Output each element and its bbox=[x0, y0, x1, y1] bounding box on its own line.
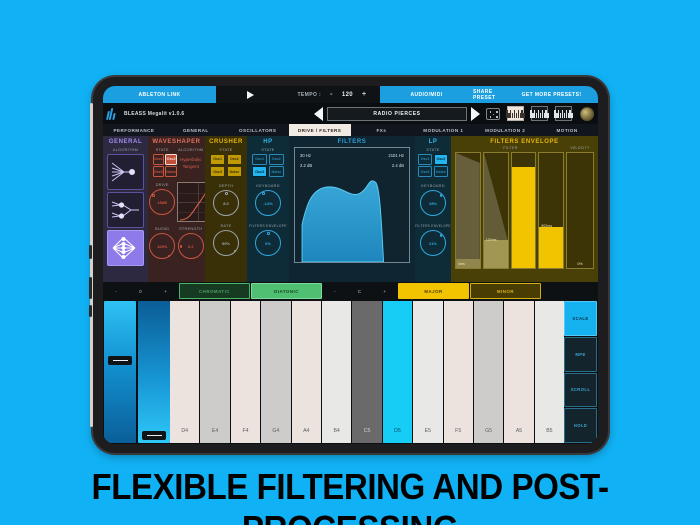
hp-title: HP bbox=[247, 137, 289, 146]
crusher-module: CRUSHER STATE Osc1 Osc2 Osc3 Noise DEPTH… bbox=[205, 136, 247, 282]
hp-state-osc1[interactable]: Osc1 bbox=[252, 154, 267, 165]
octave-stepper: - 0 + bbox=[104, 283, 178, 299]
modules-panel: GENERAL ALGORITHM bbox=[103, 136, 598, 282]
waveshaper-blend-value: 100% bbox=[157, 244, 167, 249]
diatonic-button[interactable]: DIATONIC bbox=[251, 283, 322, 299]
crusher-depth-value: 8.0 bbox=[223, 201, 229, 206]
keyboard-preset-icon[interactable] bbox=[531, 106, 548, 121]
keyboard-preset-icon[interactable] bbox=[555, 106, 572, 121]
tab-oscillators[interactable]: OSCILLATORS bbox=[227, 124, 289, 136]
piano-key-e5[interactable]: E5 bbox=[413, 301, 442, 443]
lp-filters-envelope-knob[interactable]: 21% bbox=[420, 230, 446, 256]
bleass-logo-icon bbox=[107, 108, 119, 120]
ableton-link-button[interactable]: ABLETON LINK bbox=[103, 86, 216, 103]
algorithm-serial-icon[interactable] bbox=[107, 154, 144, 190]
play-icon bbox=[247, 91, 254, 99]
waveshaper-state-grid: Osc1 Osc2 Osc3 Noise bbox=[148, 154, 177, 178]
crusher-rate-knob[interactable]: 90% bbox=[213, 230, 239, 256]
get-more-presets-button[interactable]: GET MORE PRESETS! bbox=[505, 86, 598, 103]
hp-filter-module: HP STATE Osc1 Osc2 Osc3 Noise KEYBOARD -… bbox=[247, 136, 289, 282]
filters-envelope-velocity-label: VELOCITY bbox=[566, 146, 594, 150]
waveshaper-module: WAVESHAPER STATE Osc1 Osc2 Osc3 Noise AL… bbox=[148, 136, 205, 282]
envelope-velocity-value: 0% bbox=[567, 262, 593, 266]
envelope-decay-slider[interactable]: 100ms bbox=[483, 152, 509, 269]
caption-text: FLEXIBLE FILTERING AND POST-PROCESSING bbox=[28, 466, 672, 525]
hp-keyboard-value: -14% bbox=[263, 201, 272, 206]
general-module: GENERAL ALGORITHM bbox=[103, 136, 148, 282]
hp-state-label: STATE bbox=[247, 148, 289, 152]
keyboard-preset-icon[interactable] bbox=[507, 106, 524, 121]
lp-state-label: STATE bbox=[415, 148, 451, 152]
envelope-velocity-slider[interactable]: 0% bbox=[566, 152, 594, 269]
mpe-toggle-button[interactable]: MPE bbox=[564, 337, 597, 372]
tab-modulation-1[interactable]: MODULATION 1 bbox=[412, 124, 474, 136]
lp-keyboard-control: KEYBOARD 28% bbox=[415, 182, 451, 216]
lp-state-osc3[interactable]: Osc3 bbox=[418, 166, 432, 177]
key-decrement-button[interactable]: - bbox=[334, 289, 336, 294]
waveshaper-state-osc1[interactable]: Osc1 bbox=[153, 154, 164, 165]
hp-state-noise[interactable]: Noise bbox=[269, 166, 284, 177]
envelope-release-value: 502ms bbox=[541, 224, 552, 228]
keyboard-area: D4 E4 F4 G4 A4 B4 C5 D5 E5 F5 G5 A5 B5 S… bbox=[103, 300, 598, 444]
audio-midi-button[interactable]: AUDIO/MIDI bbox=[380, 86, 473, 103]
waveshaper-strength-label: STRENGTH bbox=[179, 227, 202, 231]
filters-envelope-filter-label: FILTER bbox=[455, 146, 566, 150]
envelope-attack-value: 4ms bbox=[458, 262, 465, 266]
piano-key-g5[interactable]: G5 bbox=[474, 301, 503, 443]
envelope-sustain-fill bbox=[512, 167, 536, 268]
waveshaper-strength-knob[interactable]: 0.2 bbox=[178, 233, 204, 259]
envelope-attack-slider[interactable]: 4ms bbox=[455, 152, 481, 269]
lp-state-osc1[interactable]: Osc1 bbox=[418, 154, 432, 165]
scale-bar: - 0 + CHROMATIC DIATONIC - C + MAJOR MIN… bbox=[103, 282, 598, 300]
key-value: C bbox=[358, 289, 361, 294]
tab-general[interactable]: GENERAL bbox=[165, 124, 227, 136]
lp-keyboard-value: 28% bbox=[429, 201, 437, 206]
piano-key-c5[interactable]: C5 bbox=[352, 301, 381, 443]
envelope-sustain-value: 0.9 bbox=[514, 163, 519, 167]
tempo-label: TEMPO : bbox=[297, 92, 321, 98]
device-side-button bbox=[89, 245, 92, 259]
crusher-depth-knob[interactable]: 8.0 bbox=[213, 190, 239, 216]
lp-filters-envelope-control: FILTERS ENVELOPE 21% bbox=[415, 222, 451, 256]
tempo-value[interactable]: 120 bbox=[342, 92, 353, 98]
octave-decrement-button[interactable]: - bbox=[115, 289, 117, 294]
hold-toggle-button[interactable]: HOLD bbox=[564, 408, 597, 443]
tab-motion[interactable]: MOTION bbox=[536, 124, 598, 136]
key-increment-button[interactable]: + bbox=[383, 289, 386, 294]
piano-key-b5[interactable]: B5 bbox=[535, 301, 564, 443]
waveshaper-algorithm-label: ALGORITHM bbox=[177, 148, 206, 152]
dice-icon[interactable] bbox=[486, 108, 500, 120]
envelope-release-slider[interactable]: 502ms bbox=[538, 152, 564, 269]
waveshaper-drive-knob[interactable]: 15dB bbox=[149, 189, 175, 215]
ribbon-controllers bbox=[103, 300, 170, 444]
tab-bar: PERFORMANCE GENERAL OSCILLATORS DRIVE / … bbox=[103, 124, 598, 136]
tab-drive-filters[interactable]: DRIVE / FILTERS bbox=[289, 124, 351, 136]
crusher-title: CRUSHER bbox=[205, 137, 247, 146]
piano-keys: D4 E4 F4 G4 A4 B4 C5 D5 E5 F5 G5 A5 B5 bbox=[170, 300, 564, 444]
crusher-rate-label: RATE bbox=[220, 224, 231, 228]
waveshaper-state-osc2[interactable]: Osc2 bbox=[165, 154, 177, 165]
scale-toggle-button[interactable]: SCALE bbox=[564, 301, 597, 336]
tab-modulation-2[interactable]: MODULATION 2 bbox=[474, 124, 536, 136]
chromatic-button[interactable]: CHROMATIC bbox=[179, 283, 250, 299]
algorithm-options bbox=[103, 154, 148, 266]
lp-keyboard-knob[interactable]: 28% bbox=[420, 190, 446, 216]
hp-filters-envelope-knob[interactable]: 0% bbox=[255, 230, 281, 256]
hp-filters-envelope-value: 0% bbox=[265, 241, 271, 246]
piano-key-d4[interactable]: D4 bbox=[170, 301, 199, 443]
preset-name-display[interactable]: RADIO PIERCES bbox=[327, 107, 467, 121]
filters-response-graph[interactable]: 30 Hz 2.2 dB 2101 Hz 2.4 dB bbox=[294, 147, 410, 263]
knob-indicator bbox=[225, 192, 228, 195]
pitch-ribbon[interactable] bbox=[104, 301, 136, 443]
waveshaper-blend-control: BLEND 100% bbox=[148, 225, 177, 259]
scale-bar-spacer bbox=[542, 283, 597, 299]
preset-bar: BLEASS Megalit v1.0.6 RADIO PIERCES bbox=[103, 103, 598, 124]
knob-indicator bbox=[440, 194, 443, 197]
general-algorithm-label: ALGORITHM bbox=[103, 148, 148, 152]
waveshaper-drive-label: DRIVE bbox=[156, 183, 169, 187]
crusher-depth-label: DEPTH bbox=[219, 184, 233, 188]
hp-state-osc2[interactable]: Osc2 bbox=[269, 154, 284, 165]
minor-button[interactable]: MINOR bbox=[470, 283, 541, 299]
filters-envelope-bars: 4ms 100ms 0.9 502m bbox=[451, 151, 598, 269]
piano-key-e4[interactable]: E4 bbox=[200, 301, 229, 443]
knob-indicator bbox=[152, 194, 155, 197]
crusher-state-osc3[interactable]: Osc3 bbox=[210, 166, 225, 177]
key-stepper: - C + bbox=[323, 283, 397, 299]
hp-filters-envelope-label: FILTERS ENVELOPE bbox=[249, 224, 287, 228]
tablet-device: ABLETON LINK TEMPO : - 120 + AUDIO/MIDI … bbox=[93, 77, 608, 453]
filters-envelope-module: FILTERS ENVELOPE FILTER VELOCITY 4ms bbox=[451, 136, 598, 282]
piano-key-a5[interactable]: A5 bbox=[504, 301, 533, 443]
modulation-ribbon-handle[interactable] bbox=[142, 431, 166, 440]
piano-key-a4[interactable]: A4 bbox=[292, 301, 321, 443]
envelope-release-fill bbox=[539, 227, 563, 268]
octave-increment-button[interactable]: + bbox=[164, 289, 167, 294]
waveshaper-strength-control: STRENGTH 0.2 bbox=[177, 225, 206, 259]
hp-keyboard-label: KEYBOARD bbox=[256, 184, 280, 188]
device-volume-button bbox=[89, 305, 92, 317]
algorithm-split-glyph bbox=[109, 197, 143, 223]
tab-performance[interactable]: PERFORMANCE bbox=[103, 124, 165, 136]
knob-indicator bbox=[267, 232, 270, 235]
crusher-depth-control: DEPTH 8.0 bbox=[205, 182, 247, 216]
waveshaper-title: WAVESHAPER bbox=[148, 137, 205, 146]
preset-navigator: RADIO PIERCES bbox=[314, 106, 594, 121]
play-button[interactable] bbox=[216, 86, 284, 103]
hp-keyboard-knob[interactable]: -14% bbox=[255, 190, 281, 216]
piano-key-b4[interactable]: B4 bbox=[322, 301, 351, 443]
hp-state-osc3[interactable]: Osc3 bbox=[252, 166, 267, 177]
app-screen: ABLETON LINK TEMPO : - 120 + AUDIO/MIDI … bbox=[103, 86, 598, 444]
lp-state-grid: Osc1 Osc2 Osc3 Noise bbox=[415, 154, 451, 178]
tempo-decrement-button[interactable]: - bbox=[330, 91, 333, 98]
waveshaper-blend-knob[interactable]: 100% bbox=[149, 233, 175, 259]
crusher-state-label: STATE bbox=[205, 148, 247, 152]
modulation-ribbon[interactable] bbox=[138, 301, 170, 443]
pitch-ribbon-handle[interactable] bbox=[108, 356, 132, 365]
filters-curve bbox=[295, 148, 409, 262]
envelope-sustain-slider[interactable]: 0.9 bbox=[511, 152, 537, 269]
keyboard-glyph-icon bbox=[530, 110, 548, 118]
piano-key-g4[interactable]: G4 bbox=[261, 301, 290, 443]
knob-indicator bbox=[168, 255, 171, 258]
waveshaper-blend-label: BLEND bbox=[155, 227, 169, 231]
hp-state-grid: Osc1 Osc2 Osc3 Noise bbox=[247, 154, 289, 178]
algorithm-parallel-icon[interactable] bbox=[107, 230, 144, 266]
next-preset-icon[interactable] bbox=[471, 107, 480, 121]
piano-key-f4[interactable]: F4 bbox=[231, 301, 260, 443]
filters-module: FILTERS 30 Hz 2.2 dB 2101 Hz 2.4 dB bbox=[289, 136, 415, 282]
share-preset-button[interactable]: SHARE PRESET bbox=[473, 86, 505, 103]
knob-indicator bbox=[262, 192, 265, 195]
previous-preset-icon[interactable] bbox=[314, 107, 323, 121]
bleass-brand-icon[interactable] bbox=[580, 107, 594, 121]
crusher-state-grid: Osc1 Osc2 Osc3 Noise bbox=[205, 154, 247, 178]
transport-bar: ABLETON LINK TEMPO : - 120 + AUDIO/MIDI … bbox=[103, 86, 598, 103]
app-title: BLEASS Megalit v1.0.6 bbox=[124, 111, 184, 117]
tempo-increment-button[interactable]: + bbox=[362, 91, 367, 98]
hp-keyboard-control: KEYBOARD -14% bbox=[247, 182, 289, 216]
scroll-toggle-button[interactable]: SCROLL bbox=[564, 373, 597, 408]
general-title: GENERAL bbox=[103, 137, 148, 146]
hp-filters-envelope-control: FILTERS ENVELOPE 0% bbox=[247, 222, 289, 256]
envelope-decay-value: 100ms bbox=[486, 238, 497, 242]
lp-state-noise[interactable]: Noise bbox=[434, 166, 448, 177]
crusher-state-osc2[interactable]: Osc2 bbox=[227, 154, 242, 165]
lp-filters-envelope-value: 21% bbox=[429, 241, 437, 246]
lp-state-osc2[interactable]: Osc2 bbox=[434, 154, 448, 165]
algorithm-serial-glyph bbox=[109, 159, 143, 185]
keyboard-glyph-icon bbox=[554, 110, 572, 118]
crusher-rate-value: 90% bbox=[222, 241, 230, 246]
lp-filters-envelope-label: FILTERS ENVELOPE bbox=[415, 224, 451, 228]
lp-keyboard-label: KEYBOARD bbox=[421, 184, 445, 188]
waveshaper-state-osc3[interactable]: Osc3 bbox=[153, 166, 164, 177]
crusher-rate-control: RATE 90% bbox=[205, 222, 247, 256]
envelope-decay-ramp bbox=[484, 153, 508, 268]
crusher-state-osc1[interactable]: Osc1 bbox=[210, 154, 225, 165]
device-volume-button bbox=[89, 277, 92, 299]
knob-indicator bbox=[234, 250, 237, 253]
filters-title: FILTERS bbox=[289, 137, 415, 146]
envelope-attack-ramp bbox=[456, 153, 480, 268]
tempo-control: TEMPO : - 120 + bbox=[284, 86, 380, 103]
crusher-state-noise[interactable]: Noise bbox=[227, 166, 242, 177]
major-button[interactable]: MAJOR bbox=[398, 283, 469, 299]
tab-fxs[interactable]: FXs bbox=[351, 124, 413, 136]
octave-value: 0 bbox=[139, 289, 142, 294]
lp-filter-module: LP STATE Osc1 Osc2 Osc3 Noise KEYBOARD 2… bbox=[415, 136, 451, 282]
waveshaper-state-label: STATE bbox=[148, 148, 177, 152]
algorithm-parallel-glyph bbox=[109, 235, 143, 261]
filters-envelope-title: FILTERS ENVELOPE bbox=[451, 137, 598, 146]
waveshaper-drive-value: 15dB bbox=[157, 200, 167, 205]
algorithm-split-icon[interactable] bbox=[107, 192, 144, 228]
waveshaper-curve-display[interactable] bbox=[177, 181, 206, 222]
piano-key-f5[interactable]: F5 bbox=[444, 301, 473, 443]
lp-title: LP bbox=[415, 137, 451, 146]
waveshaper-algorithm-value[interactable]: Hyperbolic Tangent bbox=[177, 154, 206, 171]
waveshaper-drive-control: DRIVE 15dB bbox=[148, 181, 177, 222]
piano-key-d5[interactable]: D5 bbox=[383, 301, 412, 443]
keyboard-side-buttons: SCALE MPE SCROLL HOLD bbox=[564, 300, 598, 444]
keyboard-glyph-icon bbox=[506, 110, 524, 118]
knob-indicator bbox=[180, 245, 183, 248]
waveshaper-state-noise[interactable]: Noise bbox=[165, 166, 177, 177]
waveshaper-strength-value: 0.2 bbox=[188, 244, 194, 249]
knob-indicator bbox=[440, 234, 443, 237]
